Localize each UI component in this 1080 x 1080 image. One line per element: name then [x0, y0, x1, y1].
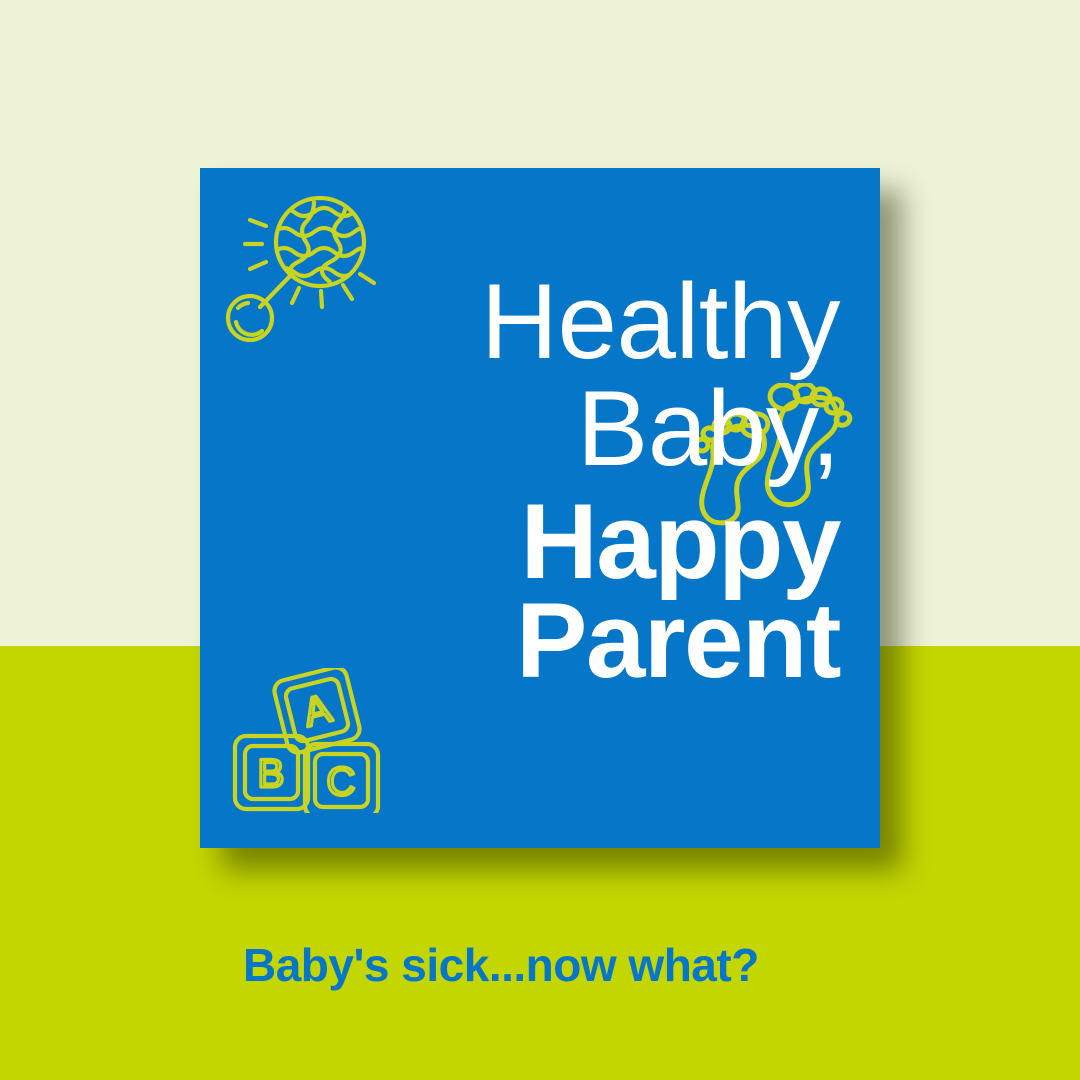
poster-canvas: A B C Healthy Baby, Happy [0, 0, 1080, 1080]
headline-line-4: Parent [240, 587, 840, 694]
headline-line-2: Baby, [240, 375, 840, 482]
block-letter-c: C [327, 760, 356, 804]
block-letter-b: B [258, 752, 285, 796]
headline: Healthy Baby, Happy Parent [240, 268, 840, 694]
hero-card: A B C Healthy Baby, Happy [200, 168, 880, 848]
headline-line-1: Healthy [240, 268, 840, 375]
subtitle: Baby's sick...now what? [243, 938, 943, 992]
headline-line-3: Happy [240, 488, 840, 595]
